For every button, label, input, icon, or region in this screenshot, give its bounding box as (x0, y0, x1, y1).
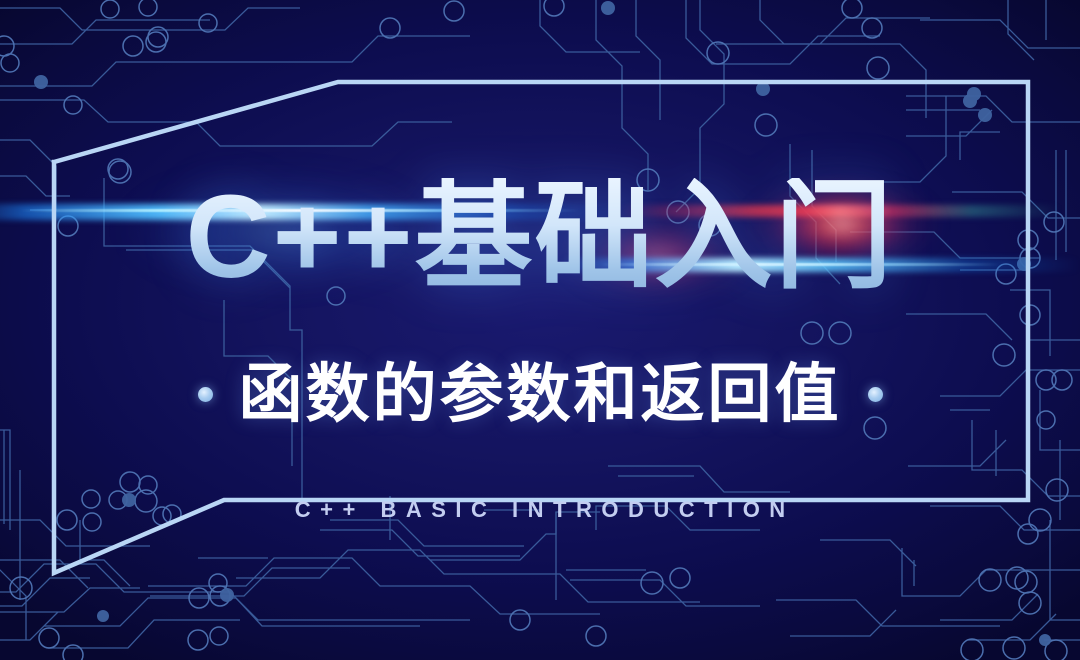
page-title: C++基础入门 (0, 178, 1080, 296)
bullet-dot-right-icon (868, 387, 883, 402)
subtitle-row: 函数的参数和返回值 (0, 362, 1080, 426)
page-tagline: C++ BASIC INTRODUCTION (0, 497, 1080, 523)
poster-canvas: C++基础入门 函数的参数和返回值 C++ BASIC INTRODUCTION (0, 0, 1080, 660)
poster-content: C++基础入门 函数的参数和返回值 C++ BASIC INTRODUCTION (0, 0, 1080, 660)
page-subtitle: 函数的参数和返回值 (239, 362, 842, 426)
bullet-dot-left-icon (198, 387, 213, 402)
